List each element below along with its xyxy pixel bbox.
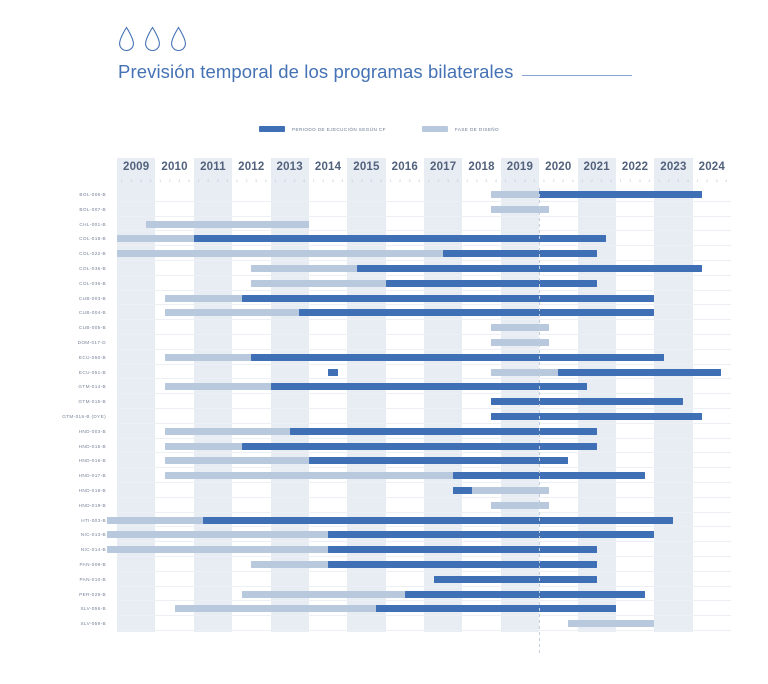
quarter-tick: 2: [357, 176, 367, 186]
gantt-bar-exec[interactable]: [386, 280, 597, 287]
quarter-tick: 4: [491, 176, 501, 186]
row-label: BOL-006-B: [79, 190, 106, 200]
gantt-chart: 2009201020112012201320142015201620172018…: [117, 158, 731, 632]
row-separator: [117, 319, 731, 320]
quarter-tick: 2: [434, 176, 444, 186]
year-tick-2019: 2019: [501, 158, 539, 176]
gantt-bar-design[interactable]: [165, 472, 453, 479]
year-tick-2012: 2012: [232, 158, 270, 176]
gantt-bar-exec[interactable]: [328, 531, 654, 538]
water-drop-icon: [144, 26, 161, 52]
row-separator: [117, 378, 731, 379]
quarter-tick: 2: [127, 176, 137, 186]
row-label: HND-016-B: [79, 456, 106, 466]
quarter-tick: 2: [587, 176, 597, 186]
gantt-bar-exec[interactable]: [328, 561, 597, 568]
year-tick-2017: 2017: [424, 158, 462, 176]
year-tick-2015: 2015: [347, 158, 385, 176]
gantt-bar-design[interactable]: [251, 265, 357, 272]
row-label: CUB-003-B: [79, 294, 106, 304]
row-label: CUB-004-B: [79, 308, 106, 318]
year-label: 2020: [545, 161, 571, 173]
quarter-tick: 1: [539, 176, 549, 186]
quarter-tick: 3: [290, 176, 300, 186]
row-separator: [117, 556, 731, 557]
quarter-tick: 2: [280, 176, 290, 186]
quarter-tick: 1: [693, 176, 703, 186]
row-label: BOL-007-B: [79, 205, 106, 215]
page-header: Previsión temporal de los programas bila…: [118, 22, 632, 83]
row-label: SLV-059-B: [81, 619, 106, 629]
quarter-tick: 4: [530, 176, 540, 186]
row-label: HND-018-B: [79, 486, 106, 496]
gantt-bar-exec[interactable]: [251, 354, 664, 361]
gantt-bar-design[interactable]: [242, 591, 405, 598]
row-label: COL-022-B: [79, 249, 106, 259]
gantt-bar-design[interactable]: [251, 280, 385, 287]
quarter-tick: 3: [558, 176, 568, 186]
gantt-bar-design[interactable]: [146, 221, 309, 228]
quarter-tick: 3: [520, 176, 530, 186]
quarter-tick: 1: [386, 176, 396, 186]
row-separator: [117, 452, 731, 453]
year-label: 2023: [660, 161, 686, 173]
gantt-bar-design[interactable]: [165, 457, 309, 464]
quarter-tick: 2: [165, 176, 175, 186]
year-label: 2022: [622, 161, 648, 173]
gantt-bar-exec[interactable]: [299, 309, 654, 316]
row-separator: [117, 600, 731, 601]
row-label: COL-018-B: [79, 234, 106, 244]
title-underline-rule: [522, 75, 632, 76]
row-label: HND-015-B: [79, 442, 106, 452]
year-label: 2012: [238, 161, 264, 173]
gantt-bar-exec[interactable]: [242, 443, 597, 450]
row-label: HND-019-B: [79, 501, 106, 511]
quarter-group-2024: 1234: [693, 176, 731, 186]
row-separator: [117, 423, 731, 424]
quarter-tick: 1: [462, 176, 472, 186]
year-axis: 2009201020112012201320142015201620172018…: [117, 158, 731, 176]
year-label: 2011: [200, 161, 226, 173]
quarter-tick: 2: [395, 176, 405, 186]
quarter-tick: 2: [664, 176, 674, 186]
quarter-tick: 4: [568, 176, 578, 186]
gantt-bar-exec[interactable]: [357, 265, 702, 272]
quarter-tick: 4: [606, 176, 616, 186]
quarter-tick: 1: [347, 176, 357, 186]
row-separator: [117, 586, 731, 587]
gantt-bar-exec[interactable]: [434, 576, 597, 583]
gantt-bar-exec[interactable]: [443, 250, 597, 257]
row-separator: [117, 497, 731, 498]
row-separator: [117, 260, 731, 261]
row-label: HND-017-B: [79, 471, 106, 481]
row-separator: [117, 512, 731, 513]
row-label: GTM-015-B: [78, 397, 106, 407]
quarter-tick: 2: [702, 176, 712, 186]
gantt-bar-exec[interactable]: [290, 428, 597, 435]
row-separator: [117, 526, 731, 527]
year-tick-2023: 2023: [654, 158, 692, 176]
row-label: DOM-017-D: [78, 338, 106, 348]
year-label: 2015: [353, 161, 379, 173]
row-separator: [117, 334, 731, 335]
year-label: 2013: [276, 161, 302, 173]
row-separator: [117, 290, 731, 291]
legend-swatch-design: [422, 126, 448, 132]
quarter-group-2015: 1234: [347, 176, 385, 186]
legend-item-exec: PERIODO DE EJECUCIÓN SEGÚN CF: [259, 126, 386, 132]
quarter-tick: 2: [625, 176, 635, 186]
row-label: ECU-051-B: [79, 368, 106, 378]
row-separator: [117, 304, 731, 305]
year-label: 2017: [430, 161, 456, 173]
quarter-tick: 3: [673, 176, 683, 186]
quarter-group-2013: 1234: [271, 176, 309, 186]
year-label: 2010: [161, 161, 187, 173]
quarter-tick: 1: [578, 176, 588, 186]
quarter-group-2020: 1234: [539, 176, 577, 186]
gantt-bar-exec[interactable]: [376, 605, 616, 612]
legend-item-design: FASE DE DISEÑO: [422, 126, 499, 132]
gantt-plot-area: [117, 188, 731, 643]
water-drop-icon-group: [118, 22, 632, 52]
year-tick-2021: 2021: [578, 158, 616, 176]
gantt-bar-design[interactable]: [165, 354, 251, 361]
year-label: 2021: [583, 161, 609, 173]
quarter-tick: 1: [155, 176, 165, 186]
year-tick-2020: 2020: [539, 158, 577, 176]
quarter-tick: 3: [597, 176, 607, 186]
quarter-tick: 3: [328, 176, 338, 186]
quarter-tick: 3: [443, 176, 453, 186]
gantt-bar-exec[interactable]: [328, 369, 338, 376]
quarter-tick: 2: [510, 176, 520, 186]
quarter-tick: 3: [405, 176, 415, 186]
year-tick-2016: 2016: [386, 158, 424, 176]
row-separator: [117, 201, 731, 202]
row-label: NIC-013-B: [81, 530, 106, 540]
quarter-axis: 1234123412341234123412341234123412341234…: [117, 176, 731, 186]
quarter-tick: 2: [318, 176, 328, 186]
gantt-bar-design[interactable]: [165, 309, 299, 316]
quarter-tick: 1: [194, 176, 204, 186]
gantt-bar-design[interactable]: [165, 295, 242, 302]
gantt-bar-design[interactable]: [117, 250, 443, 257]
gantt-bar-exec[interactable]: [491, 398, 683, 405]
gantt-bar-design[interactable]: [165, 443, 242, 450]
marker-line: [539, 188, 540, 655]
row-label: ECU-050-B: [79, 353, 106, 363]
quarter-group-2019: 1234: [501, 176, 539, 186]
quarter-tick: 4: [453, 176, 463, 186]
page-title: Previsión temporal de los programas bila…: [118, 61, 513, 83]
year-tick-2009: 2009: [117, 158, 155, 176]
gantt-bar-exec[interactable]: [309, 457, 568, 464]
year-tick-2022: 2022: [616, 158, 654, 176]
quarter-tick: 2: [549, 176, 559, 186]
row-separator: [117, 408, 731, 409]
gantt-bar-design[interactable]: [491, 191, 539, 198]
row-separator: [117, 393, 731, 394]
row-separator: [117, 216, 731, 217]
gantt-bar-exec[interactable]: [328, 546, 597, 553]
quarter-tick: 3: [213, 176, 223, 186]
row-separator: [117, 364, 731, 365]
year-tick-2011: 2011: [194, 158, 232, 176]
quarter-tick: 1: [117, 176, 127, 186]
row-separator: [117, 230, 731, 231]
quarter-group-2023: 1234: [654, 176, 692, 186]
quarter-tick: 3: [251, 176, 261, 186]
gantt-bar-design[interactable]: [107, 531, 328, 538]
quarter-tick: 2: [242, 176, 252, 186]
row-label: COL-035-B: [79, 264, 106, 274]
gantt-bar-design[interactable]: [165, 383, 271, 390]
gantt-bar-design[interactable]: [107, 517, 203, 524]
quarter-tick: 1: [501, 176, 511, 186]
year-tick-2024: 2024: [693, 158, 731, 176]
row-label: PAN-010-B: [79, 575, 106, 585]
quarter-tick: 4: [184, 176, 194, 186]
quarter-tick: 4: [338, 176, 348, 186]
gantt-bar-design[interactable]: [491, 369, 558, 376]
year-label: 2024: [699, 161, 725, 173]
quarter-group-2022: 1234: [616, 176, 654, 186]
gantt-bar-exec[interactable]: [558, 369, 721, 376]
quarter-tick: 4: [223, 176, 233, 186]
row-separator: [117, 482, 731, 483]
quarter-tick: 3: [366, 176, 376, 186]
quarter-tick: 1: [654, 176, 664, 186]
row-label: GTM-014-B: [78, 382, 106, 392]
row-label: PAN-009-B: [79, 560, 106, 570]
quarter-tick: 3: [712, 176, 722, 186]
legend-swatch-exec: [259, 126, 285, 132]
legend-label-exec: PERIODO DE EJECUCIÓN SEGÚN CF: [292, 127, 386, 132]
row-separator: [117, 349, 731, 350]
quarter-group-2017: 1234: [424, 176, 462, 186]
quarter-tick: 1: [616, 176, 626, 186]
gantt-bar-design[interactable]: [165, 428, 290, 435]
row-separator: [117, 275, 731, 276]
row-separator: [117, 245, 731, 246]
row-separator: [117, 615, 731, 616]
row-label: SLV-056-B: [81, 604, 106, 614]
gantt-bar-exec[interactable]: [491, 413, 702, 420]
row-label: HTI-003-B: [81, 516, 106, 526]
water-drop-icon: [118, 26, 135, 52]
quarter-tick: 4: [146, 176, 156, 186]
gantt-bar-design[interactable]: [568, 620, 654, 627]
year-label: 2016: [392, 161, 418, 173]
quarter-tick: 4: [645, 176, 655, 186]
quarter-tick: 4: [721, 176, 731, 186]
row-label: HND-003-B: [79, 427, 106, 437]
quarter-group-2018: 1234: [462, 176, 500, 186]
gantt-bar-design[interactable]: [175, 605, 376, 612]
quarter-tick: 2: [203, 176, 213, 186]
year-tick-2010: 2010: [155, 158, 193, 176]
row-label: COL-036-B: [79, 279, 106, 289]
quarter-tick: 4: [261, 176, 271, 186]
gantt-bar-design[interactable]: [107, 546, 328, 553]
water-drop-icon: [170, 26, 187, 52]
legend-label-design: FASE DE DISEÑO: [455, 127, 499, 132]
quarter-tick: 1: [309, 176, 319, 186]
quarter-tick: 3: [175, 176, 185, 186]
year-tick-2013: 2013: [271, 158, 309, 176]
quarter-tick: 2: [472, 176, 482, 186]
chart-legend: PERIODO DE EJECUCIÓN SEGÚN CFFASE DE DIS…: [259, 126, 499, 132]
gantt-bar-exec[interactable]: [194, 235, 607, 242]
quarter-group-2009: 1234: [117, 176, 155, 186]
gantt-bar-exec[interactable]: [539, 191, 702, 198]
quarter-tick: 3: [482, 176, 492, 186]
quarter-group-2014: 1234: [309, 176, 347, 186]
quarter-tick: 4: [299, 176, 309, 186]
title-row: Previsión temporal de los programas bila…: [118, 61, 632, 83]
row-label: NIC-014-B: [81, 545, 106, 555]
gantt-bar-design[interactable]: [117, 235, 194, 242]
row-label: PER-029-B: [79, 590, 106, 600]
row-separator: [117, 438, 731, 439]
gantt-bar-exec[interactable]: [242, 295, 655, 302]
quarter-tick: 4: [414, 176, 424, 186]
quarter-group-2021: 1234: [578, 176, 616, 186]
quarter-tick: 3: [635, 176, 645, 186]
row-separator: [117, 541, 731, 542]
row-label: GTM-016-B (DYE): [62, 412, 106, 422]
quarter-tick: 4: [376, 176, 386, 186]
year-tick-2018: 2018: [462, 158, 500, 176]
quarter-tick: 1: [232, 176, 242, 186]
quarter-tick: 1: [271, 176, 281, 186]
row-separator: [117, 630, 731, 631]
quarter-group-2016: 1234: [386, 176, 424, 186]
row-separator: [117, 571, 731, 572]
quarter-group-2010: 1234: [155, 176, 193, 186]
quarter-group-2011: 1234: [194, 176, 232, 186]
gantt-bar-exec[interactable]: [453, 472, 645, 479]
gantt-bar-exec[interactable]: [405, 591, 645, 598]
year-tick-2014: 2014: [309, 158, 347, 176]
quarter-tick: 1: [424, 176, 434, 186]
gantt-bar-design[interactable]: [472, 487, 549, 494]
row-label: CHL-001-B: [79, 220, 106, 230]
gantt-bar-exec[interactable]: [203, 517, 673, 524]
year-label: 2019: [507, 161, 533, 173]
quarter-group-2012: 1234: [232, 176, 270, 186]
gantt-page: Previsión temporal de los programas bila…: [0, 0, 768, 684]
quarter-tick: 4: [683, 176, 693, 186]
gantt-bar-exec[interactable]: [453, 487, 472, 494]
row-separator: [117, 467, 731, 468]
row-label: CUB-005-B: [79, 323, 106, 333]
quarter-tick: 3: [136, 176, 146, 186]
year-label: 2009: [123, 161, 149, 173]
year-label: 2014: [315, 161, 341, 173]
year-label: 2018: [468, 161, 494, 173]
gantt-bar-design[interactable]: [251, 561, 328, 568]
